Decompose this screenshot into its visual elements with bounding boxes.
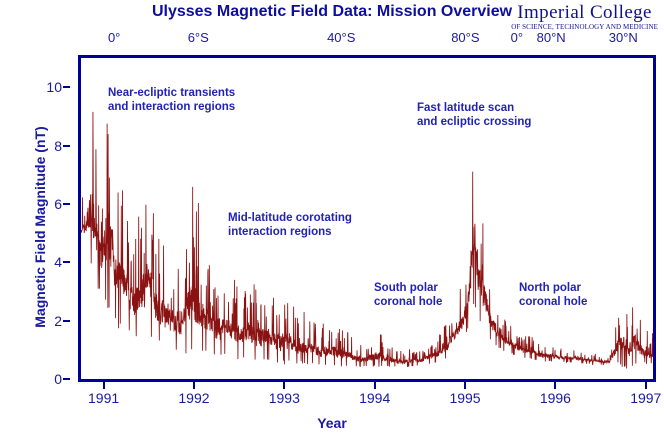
annotation-mid-latitude: Mid-latitude corotating interaction regi… bbox=[228, 211, 352, 239]
x-tick-label-1991: 1991 bbox=[88, 390, 119, 406]
x-tick-mark-1993 bbox=[283, 382, 285, 389]
y-tick-mark-2 bbox=[63, 320, 70, 322]
y-tick-label-10: 10 bbox=[46, 79, 62, 95]
x-tick-label-1995: 1995 bbox=[449, 390, 480, 406]
y-tick-label-6: 6 bbox=[54, 196, 62, 212]
y-tick-mark-8 bbox=[63, 145, 70, 147]
top-axis-tick-label-2: 40°S bbox=[327, 30, 355, 45]
top-axis-tick-label-4: 0° bbox=[511, 30, 523, 45]
top-axis-tick-label-0: 0° bbox=[108, 30, 120, 45]
logo-main-text: Imperial College bbox=[511, 3, 658, 23]
annotation-near-ecliptic: Near-ecliptic transients and interaction… bbox=[108, 86, 235, 114]
annotation-north-polar: North polar coronal hole bbox=[519, 281, 587, 309]
x-tick-mark-1992 bbox=[193, 382, 195, 389]
x-tick-mark-1995 bbox=[464, 382, 466, 389]
y-axis-title: Magnetic Field Magnitude (nT) bbox=[32, 87, 48, 367]
y-tick-mark-4 bbox=[63, 261, 70, 263]
series-trace bbox=[81, 112, 653, 369]
x-tick-label-1997: 1997 bbox=[630, 390, 661, 406]
x-tick-label-1996: 1996 bbox=[540, 390, 571, 406]
x-tick-mark-1997 bbox=[645, 382, 647, 389]
x-tick-mark-1994 bbox=[374, 382, 376, 389]
y-tick-label-8: 8 bbox=[54, 138, 62, 154]
y-tick-mark-6 bbox=[63, 203, 70, 205]
top-axis-tick-label-5: 80°N bbox=[537, 30, 566, 45]
x-tick-label-1993: 1993 bbox=[269, 390, 300, 406]
x-axis: Year 1991199219931994199519961997 bbox=[0, 382, 664, 438]
chart-root: Ulysses Magnetic Field Data: Mission Ove… bbox=[0, 0, 664, 438]
y-tick-label-2: 2 bbox=[54, 313, 62, 329]
y-tick-mark-10 bbox=[63, 86, 70, 88]
imperial-college-logo: Imperial College OF SCIENCE, TECHNOLOGY … bbox=[511, 3, 658, 32]
x-tick-label-1992: 1992 bbox=[178, 390, 209, 406]
y-tick-mark-0 bbox=[63, 378, 70, 380]
x-tick-mark-1991 bbox=[103, 382, 105, 389]
annotation-fast-latitude-scan: Fast latitude scan and ecliptic crossing bbox=[417, 101, 531, 129]
y-tick-label-4: 4 bbox=[54, 254, 62, 270]
top-latitude-axis: 0°6°S40°S80°S0°80°N30°N bbox=[0, 30, 664, 50]
x-tick-label-1994: 1994 bbox=[359, 390, 390, 406]
x-axis-title: Year bbox=[0, 415, 664, 431]
top-axis-tick-label-6: 30°N bbox=[609, 30, 638, 45]
logo-sub-text: OF SCIENCE, TECHNOLOGY AND MEDICINE bbox=[511, 23, 658, 32]
top-axis-tick-label-3: 80°S bbox=[451, 30, 479, 45]
top-axis-tick-label-1: 6°S bbox=[188, 30, 209, 45]
x-tick-mark-1996 bbox=[554, 382, 556, 389]
annotation-south-polar: South polar coronal hole bbox=[374, 281, 442, 309]
y-axis: Magnetic Field Magnitude (nT) 0246810 bbox=[0, 0, 78, 438]
